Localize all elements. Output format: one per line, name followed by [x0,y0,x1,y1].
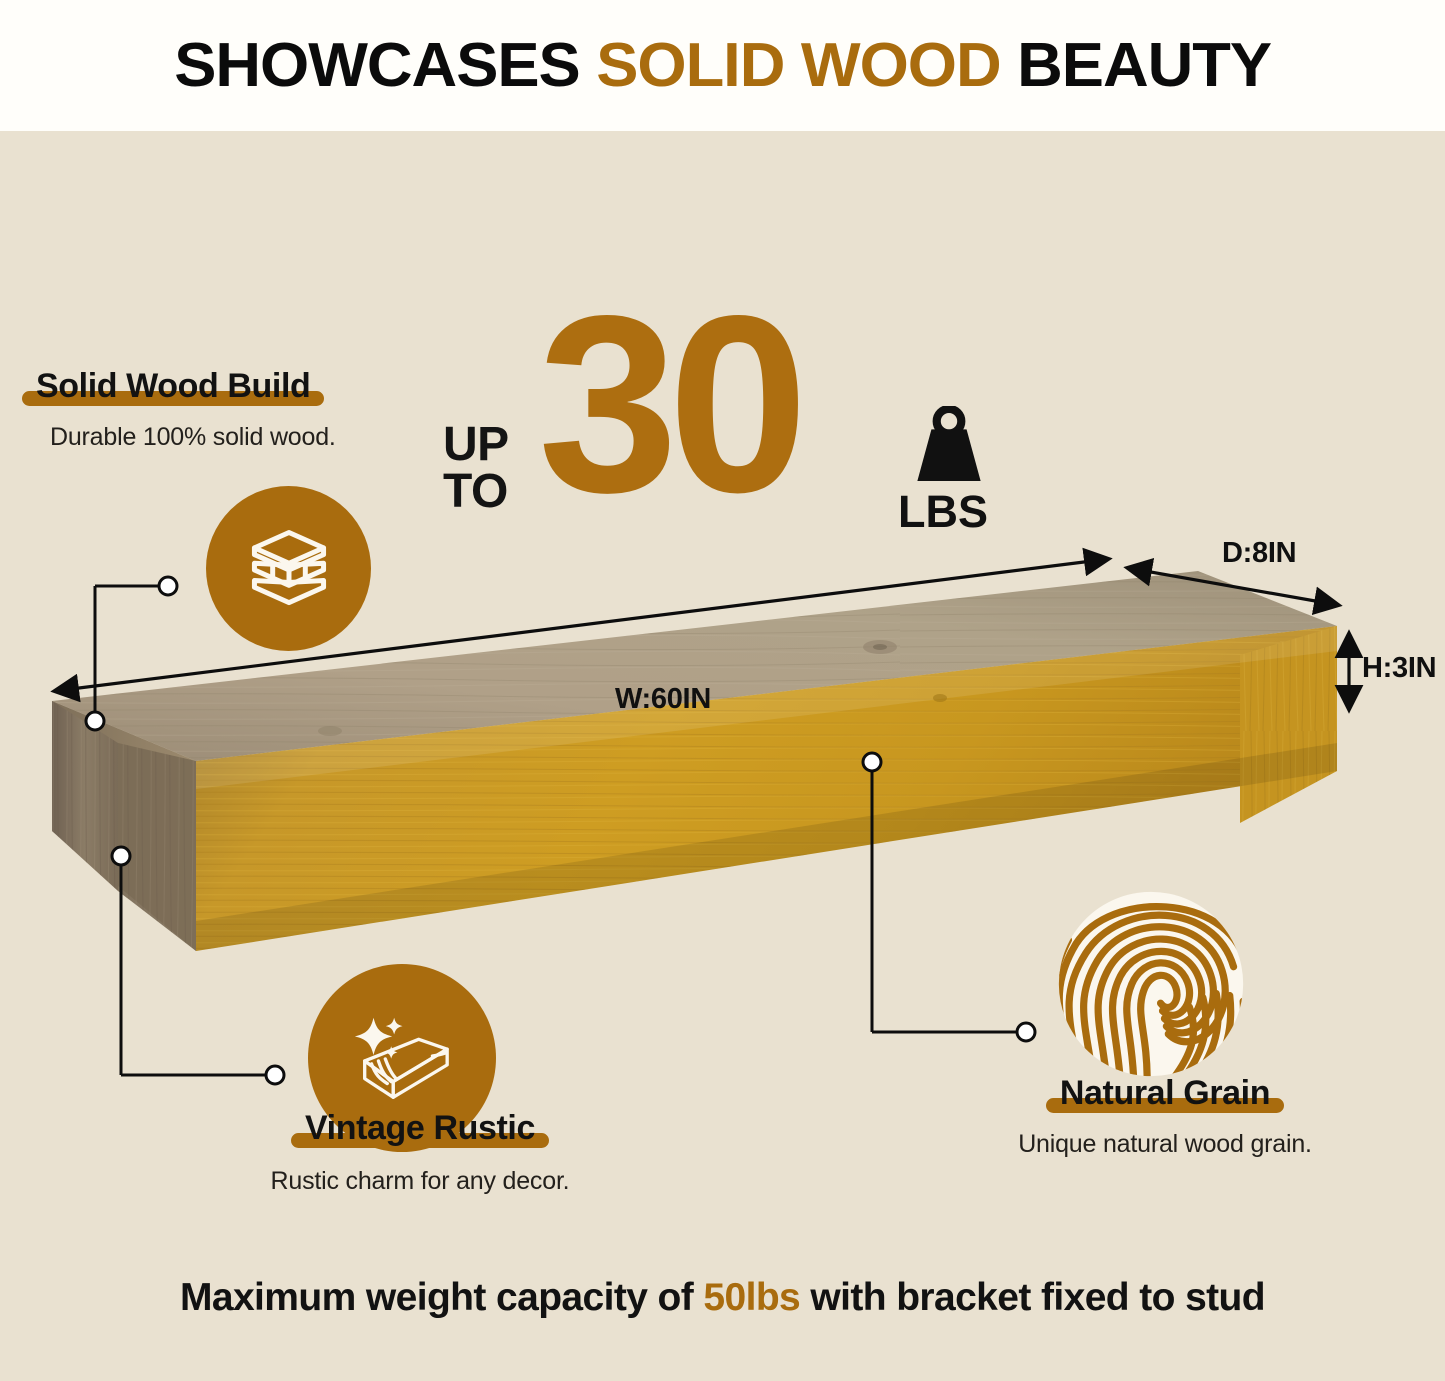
wood-grain-circle-icon [1055,888,1247,1080]
note-highlight: 50lbs [703,1276,800,1319]
up-to-label: UP TO [443,421,509,515]
leader-dot-solid-wood-outer [159,577,177,595]
leader-dot-grain-anchor [863,753,881,771]
feature-solid-wood-build: Solid Wood Build Durable 100% solid wood… [32,369,336,452]
feature-subtitle-vintage-rustic: Rustic charm for any decor. [270,1167,570,1196]
feature-subtitle-solid-wood: Durable 100% solid wood. [50,423,336,452]
header-band: SHOWCASES SOLID WOOD BEAUTY [0,0,1445,131]
headline-part-2: SOLID WOOD [596,31,1000,100]
note-part-2: with bracket fixed to stud [800,1276,1265,1319]
width-label: W:60IN [615,683,711,716]
max-capacity-note: Maximum weight capacity of 50lbs with br… [0,1276,1445,1320]
feature-title-text: Solid Wood Build [36,367,310,405]
up-label: UP [443,421,509,468]
leader-dot-grain-outer [1017,1023,1035,1041]
infographic-stage: UP TO 30 LBS W:60IN D:8IN H:3IN Solid Wo… [0,131,1445,1381]
leader-dot-vintage-outer [266,1066,284,1084]
feature-title-solid-wood: Solid Wood Build [32,369,314,405]
headline-part-1: SHOWCASES [174,31,596,100]
stacked-wood-layers-icon [206,486,371,651]
feature-natural-grain: Natural Grain Unique natural wood grain. [1005,1076,1325,1159]
page-title: SHOWCASES SOLID WOOD BEAUTY [174,35,1271,97]
note-part-1: Maximum weight capacity of [180,1276,703,1319]
feature-title-text: Vintage Rustic [305,1109,535,1147]
to-label: TO [443,468,509,515]
leader-dot-vintage-anchor [112,847,130,865]
leader-dot-solid-wood-anchor [86,712,104,730]
capacity-value: 30 [538,279,798,531]
feature-vintage-rustic: Vintage Rustic Rustic charm for any deco… [270,1111,570,1196]
weight-icon [911,406,987,488]
feature-title-vintage-rustic: Vintage Rustic [301,1111,539,1147]
depth-label: D:8IN [1222,537,1296,570]
feature-title-natural-grain: Natural Grain [1056,1076,1274,1112]
feature-subtitle-natural-grain: Unique natural wood grain. [1005,1130,1325,1159]
capacity-unit: LBS [898,486,988,538]
feature-title-text: Natural Grain [1060,1074,1270,1112]
height-label: H:3IN [1362,652,1436,685]
weight-capacity-badge: UP TO 30 LBS [443,301,1013,536]
headline-part-3: BEAUTY [1000,31,1270,100]
